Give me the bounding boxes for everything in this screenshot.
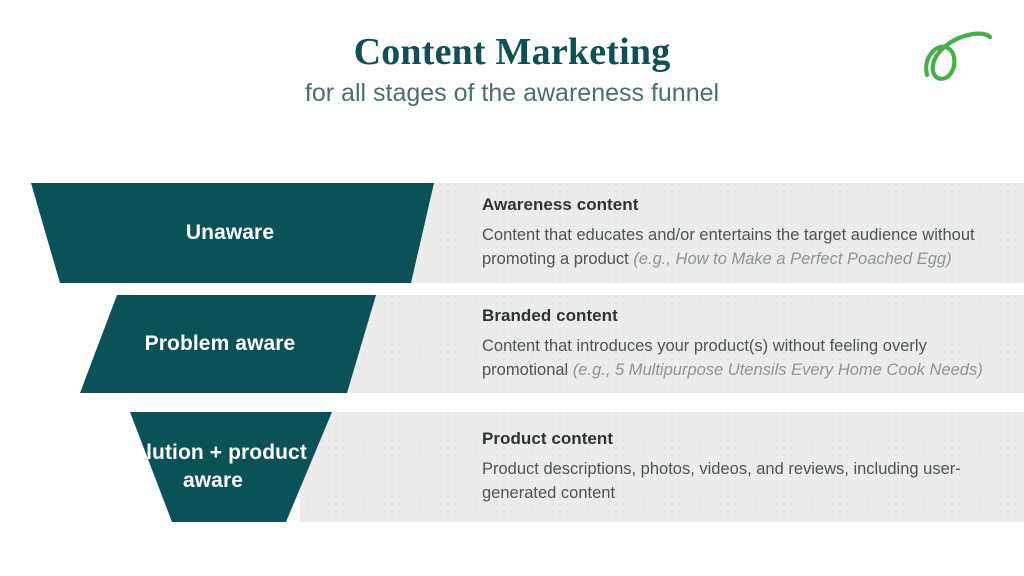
content-heading: Awareness content (482, 195, 1022, 215)
green-loop-logo-icon (921, 28, 993, 90)
content-description-block: Awareness content Content that educates … (482, 183, 1022, 283)
slide-header: Content Marketing for all stages of the … (0, 0, 1024, 140)
slide-canvas: Content Marketing for all stages of the … (0, 0, 1024, 576)
funnel-row-problem-aware: Problem aware Branded content Content th… (0, 295, 1024, 393)
funnel-segment-shape (30, 183, 434, 283)
content-example-text: (e.g., 5 Multipurpose Utensils Every Hom… (573, 361, 983, 379)
funnel-segment-shape (80, 295, 376, 393)
content-example-text: (e.g., How to Make a Perfect Poached Egg… (633, 250, 951, 268)
funnel-segment-shape (110, 412, 332, 522)
content-description-block: Branded content Content that introduces … (482, 295, 1022, 393)
page-subtitle: for all stages of the awareness funnel (0, 78, 1024, 109)
content-body-text: Product descriptions, photos, videos, an… (482, 460, 961, 501)
content-body: Content that introduces your product(s) … (482, 335, 1012, 382)
content-body: Content that educates and/or entertains … (482, 224, 1012, 271)
content-heading: Branded content (482, 306, 1022, 326)
funnel-row-unaware: Unaware Awareness content Content that e… (0, 183, 1024, 283)
content-body: Product descriptions, photos, videos, an… (482, 458, 1012, 505)
content-heading: Product content (482, 429, 1022, 449)
content-description-block: Product content Product descriptions, ph… (482, 412, 1022, 522)
funnel-row-solution-product-aware: Solution + product aware Product content… (0, 412, 1024, 522)
page-title: Content Marketing (0, 32, 1024, 74)
